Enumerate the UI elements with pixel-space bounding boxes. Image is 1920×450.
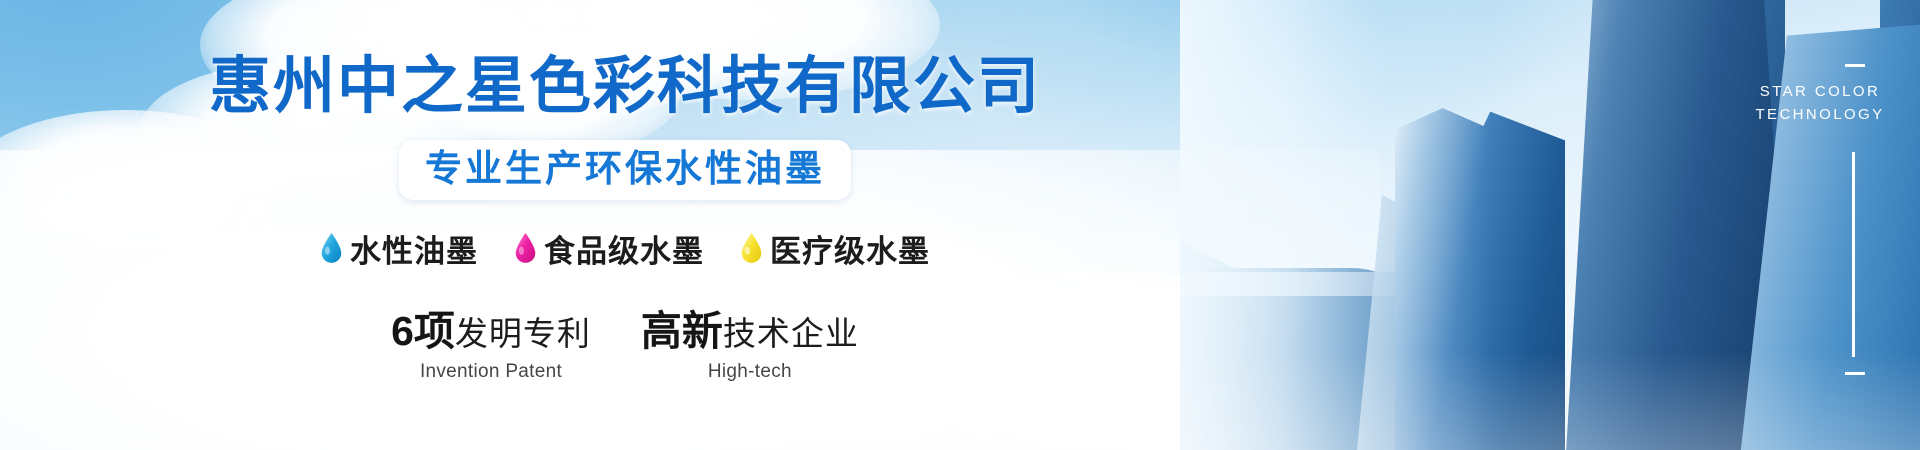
badge-chinese-line: 6项 发明专利 [391, 297, 591, 357]
label-tick-top [1845, 64, 1865, 67]
page-title: 惠州中之星色彩科技有限公司 [209, 56, 1041, 118]
subtitle-pill: 专业生产环保水性油墨 [399, 140, 851, 200]
feature-label: 医疗级水墨 [770, 226, 930, 271]
banner-content: 惠州中之星色彩科技有限公司 专业生产环保水性油墨 水性油墨 [0, 0, 1250, 450]
badge-english-text: Invention Patent [420, 361, 562, 383]
subtitle-text: 专业生产环保水性油墨 [425, 148, 825, 189]
water-drop-icon [740, 232, 763, 265]
badge-rest-text: 发明专利 [455, 307, 591, 355]
feature-label: 食品级水墨 [544, 226, 704, 271]
feature-item-water-ink: 水性油墨 [320, 226, 478, 271]
feature-item-medical-grade-ink: 医疗级水墨 [740, 226, 930, 271]
badge-invention-patent: 6项 发明专利 Invention Patent [391, 297, 591, 383]
label-tick-bottom [1845, 372, 1865, 375]
water-drop-icon [514, 232, 537, 265]
badge-strong-text: 高新 [641, 297, 723, 357]
badge-high-tech-enterprise: 高新 技术企业 High-tech [641, 297, 859, 383]
feature-list: 水性油墨 食品级水墨 [320, 226, 930, 271]
badge-english-text: High-tech [708, 361, 792, 383]
building-brand-line-1: STAR COLOR [1720, 80, 1920, 103]
water-drop-icon [320, 232, 343, 265]
building-brand-line-2: TECHNOLOGY [1720, 103, 1920, 126]
badge-chinese-line: 高新 技术企业 [641, 297, 859, 357]
credential-badges: 6项 发明专利 Invention Patent 高新 技术企业 High-te… [391, 297, 859, 383]
badge-rest-text: 技术企业 [723, 307, 859, 355]
badge-strong-text: 6项 [391, 297, 455, 357]
feature-label: 水性油墨 [350, 226, 478, 271]
feature-item-food-grade-ink: 食品级水墨 [514, 226, 704, 271]
skyscraper-photo: STAR COLOR TECHNOLOGY [1180, 0, 1920, 450]
label-vertical-rule [1852, 152, 1855, 357]
company-banner: Star Color STAR COLOR TECHNOLOGY 惠州中之星色彩… [0, 0, 1920, 450]
building-cylinder-tower [1395, 108, 1565, 450]
building-brand-label: STAR COLOR TECHNOLOGY [1720, 80, 1920, 126]
